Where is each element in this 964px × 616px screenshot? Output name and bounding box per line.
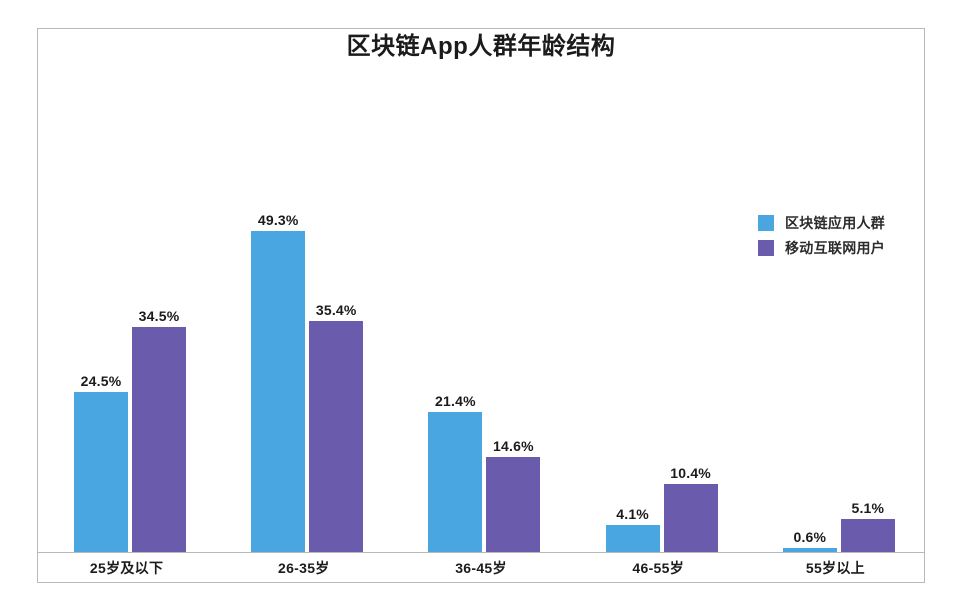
bar-series-a[interactable]: 21.4%: [428, 412, 482, 552]
category-axis-labels: 25岁及以下 26-35岁 36-45岁 46-55岁 55岁以上: [38, 553, 924, 582]
bar-value-label: 0.6%: [793, 529, 826, 545]
bar-value-label: 4.1%: [616, 506, 649, 522]
bar-value-label: 10.4%: [670, 465, 711, 481]
bar-value-label: 34.5%: [139, 308, 180, 324]
bar-series-a[interactable]: 49.3%: [251, 231, 305, 552]
category-label: 46-55岁: [570, 553, 747, 582]
bar-value-label: 5.1%: [851, 500, 884, 516]
legend-label: 区块链应用人群: [785, 213, 885, 233]
bar-value-label: 21.4%: [435, 393, 476, 409]
category-label: 36-45岁: [392, 553, 569, 582]
bar-series-b[interactable]: 14.6%: [486, 457, 540, 552]
legend-label: 移动互联网用户: [785, 238, 885, 258]
category-label: 26-35岁: [215, 553, 392, 582]
bar-series-a[interactable]: 4.1%: [606, 525, 660, 552]
legend-item-series-b[interactable]: 移动互联网用户: [758, 235, 885, 260]
bar-series-b[interactable]: 10.4%: [664, 484, 718, 552]
bars-layer: 24.5% 34.5% 49.3% 35.4% 21.4% 14.6% 4.: [38, 29, 924, 552]
bar-group: 21.4% 14.6%: [392, 29, 569, 552]
chart-legend: 区块链应用人群 移动互联网用户: [758, 210, 885, 260]
bar-series-b[interactable]: 5.1%: [841, 519, 895, 552]
bar-value-label: 14.6%: [493, 438, 534, 454]
bar-value-label: 49.3%: [258, 212, 299, 228]
chart-container: 区块链App人群年龄结构 24.5% 34.5% 49.3% 35.4% 21.…: [0, 0, 964, 616]
bar-group: 4.1% 10.4%: [570, 29, 747, 552]
legend-item-series-a[interactable]: 区块链应用人群: [758, 210, 885, 235]
bar-value-label: 24.5%: [81, 373, 122, 389]
bar-group: 24.5% 34.5%: [38, 29, 215, 552]
bar-group: 0.6% 5.1%: [747, 29, 924, 552]
bar-value-label: 35.4%: [316, 302, 357, 318]
bar-series-b[interactable]: 35.4%: [309, 321, 363, 552]
bar-series-a[interactable]: 24.5%: [74, 392, 128, 552]
category-label: 25岁及以下: [38, 553, 215, 582]
category-label: 55岁以上: [747, 553, 924, 582]
bar-group: 49.3% 35.4%: [215, 29, 392, 552]
legend-swatch-icon: [758, 240, 774, 256]
legend-swatch-icon: [758, 215, 774, 231]
bar-series-b[interactable]: 34.5%: [132, 327, 186, 552]
